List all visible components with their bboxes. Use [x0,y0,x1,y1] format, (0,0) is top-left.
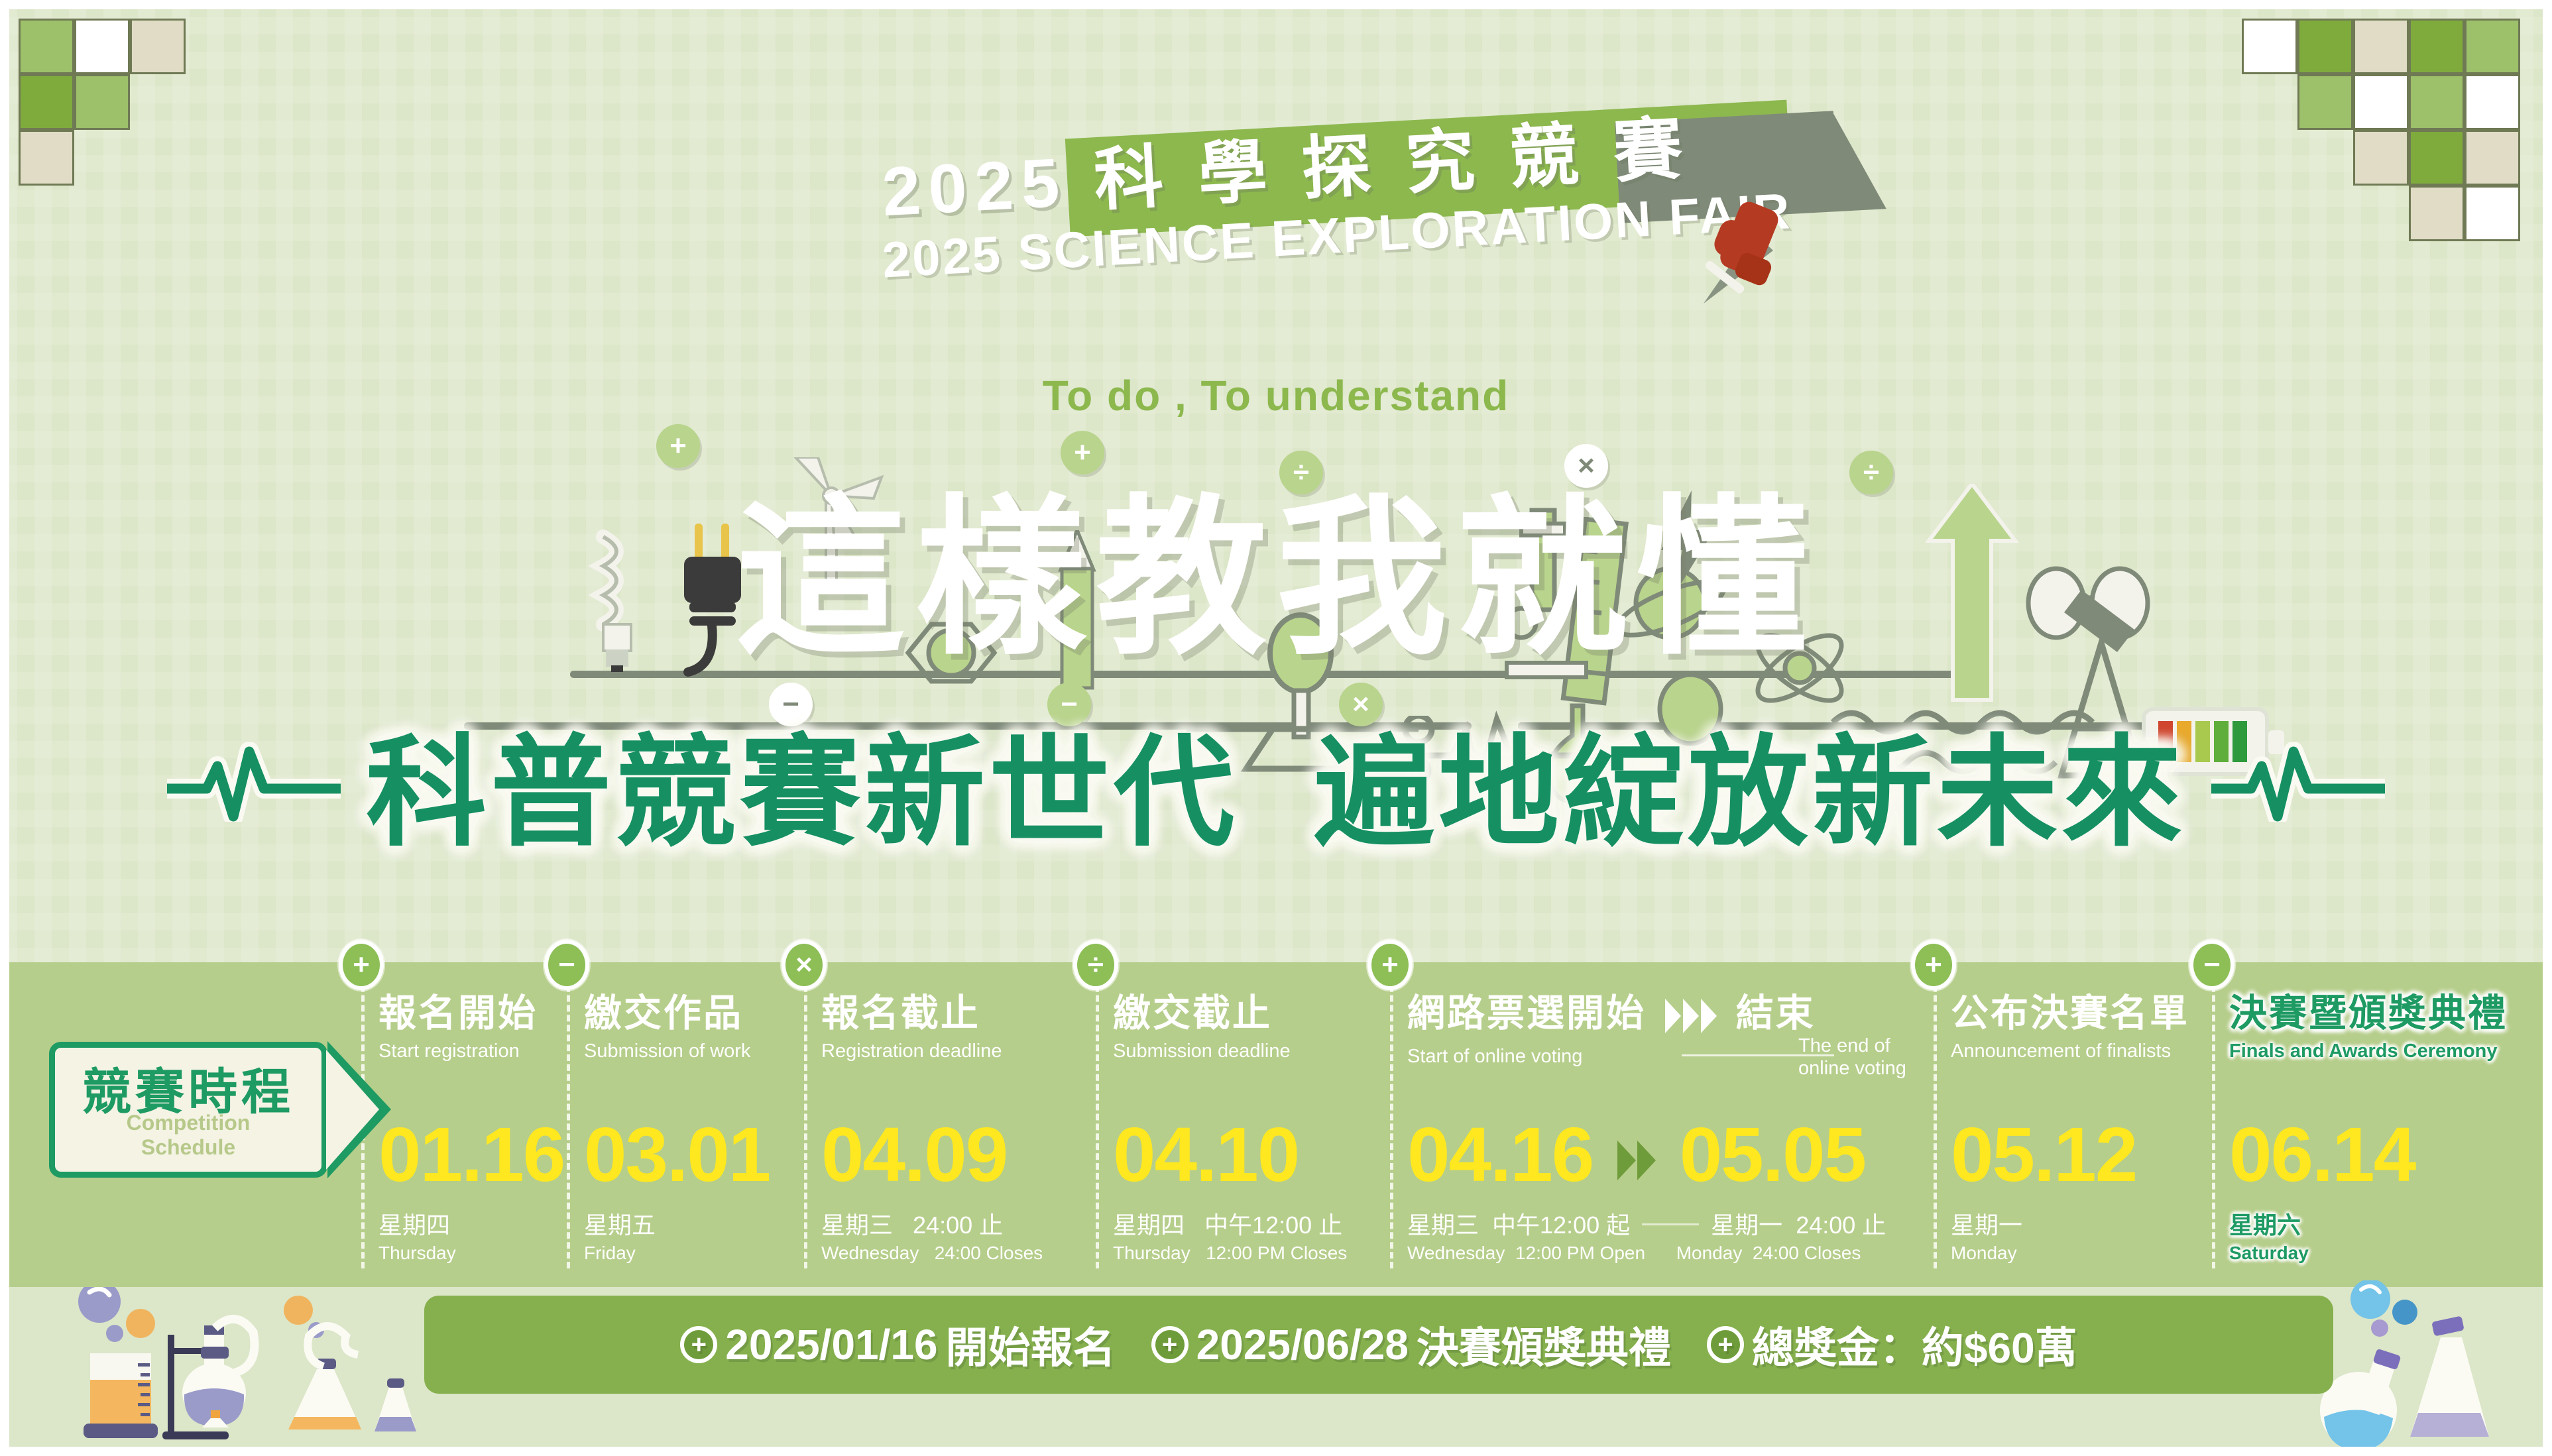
pushpin-icon [1697,192,1796,305]
multiply-badge-icon: × [782,940,827,990]
timeline-day-cn: 星期六 [2229,1211,2309,1239]
timeline-time-cn: 24:00 止 [913,1211,1003,1239]
timeline-title-cn-end: 結束 [1736,992,1816,1035]
plus-badge-icon: + [339,940,384,990]
triple-arrow-icon [1665,999,1717,1033]
timeline-item-start-registration[interactable]: + 報名開始 Start registration 01.16 星期四 Thur… [361,962,567,1287]
timeline-item-announcement-of-finalists[interactable]: + 公布決賽名單 Announcement of finalists 05.12… [1934,962,2212,1287]
timeline-title-en-start: Start of online voting [1407,1045,1582,1068]
timeline-title-en: Submission of work [584,1040,804,1062]
timeline-date: 05.12 [1951,1115,2136,1194]
plus-badge-icon: + [1911,940,1956,990]
timeline-time-en-start: 12:00 PM Open [1515,1243,1645,1263]
timeline-title-en-end: The end ofonline voting [1798,1035,1906,1080]
plus-icon: + [1707,1326,1744,1363]
slogan-row: 科普競賽新世代 遍地綻放新未來 [0,696,2552,868]
timeline-title-cn: 決賽暨頒獎典禮 [2229,993,2504,1034]
lab-glassware-illustration [27,1287,437,1453]
timeline-day-en: Wednesday [821,1243,919,1263]
bottom-label: 開始報名 [946,1314,1116,1375]
timeline-day-cn: 星期四 [378,1211,456,1239]
artword-text: 這樣教我就懂 [0,489,2552,668]
timeline-item-online-voting[interactable]: + 網路票選開始 結束 Start of online voting The e… [1390,962,1934,1287]
timeline-day-cn: 星期五 [584,1211,656,1239]
plus-icon: + [1151,1326,1189,1363]
timeline-day-cn: 星期三 [821,1211,893,1239]
schedule-badge: 競賽時程 Competition Schedule [49,1042,327,1178]
poster-canvas: 2025 科 學 探 究 競 賽 2025 SCIENCE EXPLORATIO… [0,0,2552,1456]
minus-badge-icon: − [2189,940,2234,990]
timeline-time-en-end: 24:00 Closes [1753,1243,1861,1263]
bottom-item-awards-ceremony[interactable]: + 2025/06/28 決賽頒獎典禮 [1151,1314,1671,1375]
timeline-title-cn: 繳交截止 [1113,993,1390,1034]
double-arrow-icon [1617,1141,1656,1180]
timeline-title-en: Start registration [378,1040,567,1062]
timeline-date: 04.10 [1113,1115,1299,1194]
timeline-date: 04.09 [821,1115,1007,1194]
timeline-day-en: Monday [1951,1242,2022,1264]
timeline-day-en: Thursday [378,1242,456,1264]
ecg-left-icon [164,742,343,822]
divide-badge-decor-2: ÷ [1849,451,1893,494]
timeline-date: 03.01 [584,1115,770,1194]
timeline-day-cn: 星期一 [1951,1211,2022,1239]
timeline-day-en-start: Wednesday [1407,1243,1505,1263]
timeline-day-en: Friday [584,1242,656,1264]
bottom-date: 2025/01/16 [725,1320,937,1369]
ecg-right-icon [2209,742,2388,822]
timeline-item-submission-deadline[interactable]: ÷ 繳交截止 Submission deadline 04.10 星期四 中午1… [1096,962,1390,1287]
divider-line-small [1642,1223,1699,1225]
bottom-label: 總獎金：約$60萬 [1752,1314,2077,1375]
timeline-day-cn: 星期四 [1113,1211,1185,1239]
timeline-day-en-end: Monday [1676,1243,1743,1263]
timeline-item-submission-of-work[interactable]: − 繳交作品 Submission of work 03.01 星期五 Frid… [567,962,804,1287]
plus-badge-decor-1: + [656,424,700,468]
plus-icon: + [680,1326,717,1363]
timeline-item-registration-deadline[interactable]: × 報名截止 Registration deadline 04.09 星期三 2… [804,962,1096,1287]
timeline-time-en: 24:00 Closes [935,1243,1043,1263]
timeline-title-en: Announcement of finalists [1951,1040,2212,1062]
schedule-badge-en: Competition Schedule [49,1111,327,1160]
timeline-title-en: Submission deadline [1113,1040,1390,1062]
bottom-item-registration-open[interactable]: + 2025/01/16 開始報名 [680,1314,1115,1375]
timeline-title-cn: 繳交作品 [584,993,804,1034]
timeline-date: 06.14 [2229,1115,2415,1194]
timeline-title-cn: 報名截止 [821,993,1096,1034]
timeline-band: 競賽時程 Competition Schedule + 報名開始 Start r… [0,962,2552,1287]
header-logo-block: 2025 科 學 探 究 競 賽 2025 SCIENCE EXPLORATIO… [0,93,2552,643]
timeline-time-cn-end: 24:00 止 [1796,1211,1886,1239]
timeline-columns: + 報名開始 Start registration 01.16 星期四 Thur… [361,962,2552,1287]
timeline-title-cn-start: 網路票選開始 [1407,992,1646,1035]
timeline-day-en: Saturday [2229,1242,2309,1264]
tagline-text: To do , To understand [0,371,2552,420]
timeline-time-cn: 中午12:00 止 [1204,1211,1342,1239]
multiply-badge-decor-1: × [1564,444,1608,488]
timeline-date-start: 04.16 [1407,1111,1593,1198]
bottom-item-total-prize[interactable]: + 總獎金：約$60萬 [1707,1314,2077,1375]
slogan-right: 遍地綻放新未來 [1314,695,2186,869]
timeline-title-cn: 報名開始 [378,993,567,1034]
minus-badge-icon: − [544,940,589,990]
timeline-item-finals-awards-ceremony[interactable]: − 決賽暨頒獎典禮 Finals and Awards Ceremony 06.… [2212,962,2504,1287]
timeline-title-en: Finals and Awards Ceremony [2229,1040,2504,1062]
timeline-title-en: Registration deadline [821,1040,1096,1062]
bottom-date: 2025/06/28 [1196,1320,1409,1369]
timeline-date-end: 05.05 [1680,1111,1865,1198]
timeline-time-en: 12:00 PM Closes [1206,1243,1347,1263]
timeline-day-cn-start: 星期三 [1407,1211,1479,1239]
slogan-left: 科普競賽新世代 [366,695,1238,869]
bottom-label: 決賽頒獎典禮 [1417,1314,1671,1375]
timeline-time-cn-start: 中午12:00 起 [1492,1211,1630,1239]
bottom-info-bar: + 2025/01/16 開始報名 + 2025/06/28 決賽頒獎典禮 + … [424,1296,2333,1394]
timeline-day-cn-end: 星期一 [1711,1211,1782,1239]
timeline-title-cn: 公布決賽名單 [1951,993,2212,1034]
timeline-date: 01.16 [378,1115,564,1194]
divide-badge-icon: ÷ [1073,940,1118,990]
timeline-day-en: Thursday [1113,1243,1190,1263]
plus-badge-decor-2: + [1061,431,1104,475]
plus-badge-icon: + [1367,940,1413,990]
